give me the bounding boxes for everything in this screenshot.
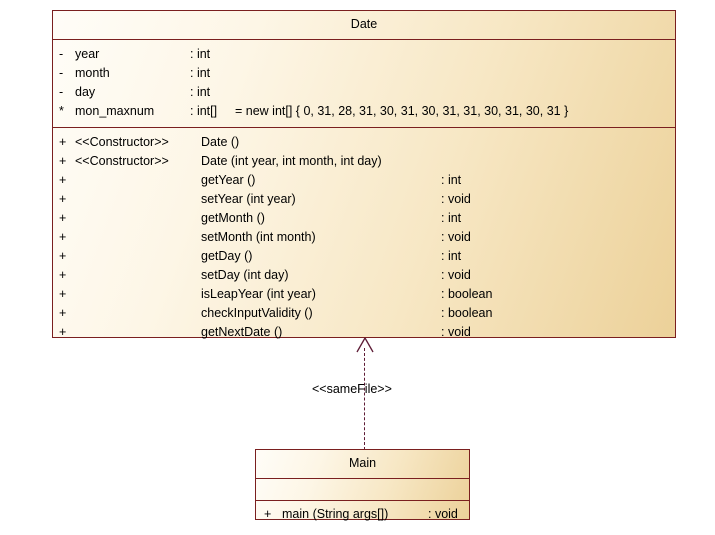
return-type: : boolean [441,285,492,304]
visibility-marker: + [59,323,73,342]
attribute-name: day [75,83,95,102]
operation-signature: checkInputValidity () [201,304,313,323]
operation-signature: Date (int year, int month, int day) [201,152,382,171]
operation-signature: getYear () [201,171,255,190]
date-attributes-compartment: -year: int-month: int-day: int*mon_maxnu… [53,39,675,127]
attribute-type: : int[] [190,102,217,121]
stereotype-label: <<Constructor>> [75,133,169,152]
operation-row[interactable]: +getMonth (): int [53,209,675,228]
attribute-row[interactable]: *mon_maxnum: int[]= new int[] { 0, 31, 2… [53,102,675,121]
operation-signature: Date () [201,133,239,152]
operation-row[interactable]: +getDay (): int [53,247,675,266]
operation-row[interactable]: +<<Constructor>>Date (int year, int mont… [53,152,675,171]
dependency-connector-line[interactable] [364,348,365,450]
operation-signature: getNextDate () [201,323,282,342]
attribute-initializer: = new int[] { 0, 31, 28, 31, 30, 31, 30,… [235,102,568,121]
visibility-marker: + [59,190,73,209]
attribute-name: mon_maxnum [75,102,154,121]
attribute-type: : int [190,83,210,102]
uml-diagram-canvas: Date -year: int-month: int-day: int*mon_… [0,0,715,535]
main-attributes-compartment [256,478,469,500]
return-type: : int [441,247,461,266]
return-type: : void [441,266,471,285]
visibility-marker: + [59,152,73,171]
class-name-main: Main [256,450,469,478]
visibility-marker: + [59,285,73,304]
return-type: : int [441,209,461,228]
visibility-marker: - [59,83,73,102]
operation-signature: isLeapYear (int year) [201,285,316,304]
operation-row[interactable]: +main (String args[]): void [256,504,469,524]
date-title-compartment: Date [53,11,675,39]
operation-signature: getDay () [201,247,252,266]
attribute-row[interactable]: -month: int [53,64,675,83]
visibility-marker: + [59,171,73,190]
visibility-marker: + [59,209,73,228]
visibility-marker: + [59,228,73,247]
return-type: : void [428,504,458,524]
visibility-marker: - [59,45,73,64]
operation-row[interactable]: +setYear (int year): void [53,190,675,209]
operation-row[interactable]: +checkInputValidity (): boolean [53,304,675,323]
attribute-name: year [75,45,99,64]
main-operations-compartment: +main (String args[]): void [256,500,469,527]
attribute-row[interactable]: -year: int [53,45,675,64]
operation-row[interactable]: +setMonth (int month): void [53,228,675,247]
return-type: : void [441,323,471,342]
visibility-marker: + [59,266,73,285]
operation-row[interactable]: +<<Constructor>>Date () [53,133,675,152]
operation-signature: getMonth () [201,209,265,228]
class-box-date[interactable]: Date -year: int-month: int-day: int*mon_… [52,10,676,338]
operation-signature: setYear (int year) [201,190,296,209]
visibility-marker: + [59,304,73,323]
attribute-name: month [75,64,110,83]
main-title-compartment: Main [256,450,469,478]
visibility-marker: + [59,133,73,152]
return-type: : int [441,171,461,190]
class-name-date: Date [53,11,675,39]
return-type: : void [441,190,471,209]
operation-row[interactable]: +getYear (): int [53,171,675,190]
return-type: : boolean [441,304,492,323]
attribute-type: : int [190,45,210,64]
attribute-type: : int [190,64,210,83]
date-operations-compartment: +<<Constructor>>Date ()+<<Constructor>>D… [53,127,675,348]
operation-row[interactable]: +setDay (int day): void [53,266,675,285]
attribute-row[interactable]: -day: int [53,83,675,102]
visibility-marker: + [59,247,73,266]
operation-signature: main (String args[]) [282,504,388,524]
visibility-marker: + [264,504,278,524]
return-type: : void [441,228,471,247]
class-box-main[interactable]: Main +main (String args[]): void [255,449,470,520]
stereotype-label: <<Constructor>> [75,152,169,171]
visibility-marker: - [59,64,73,83]
relationship-label: <<sameFile>> [312,382,392,396]
operation-signature: setMonth (int month) [201,228,316,247]
visibility-marker: * [59,102,73,121]
operation-signature: setDay (int day) [201,266,289,285]
operation-row[interactable]: +isLeapYear (int year): boolean [53,285,675,304]
